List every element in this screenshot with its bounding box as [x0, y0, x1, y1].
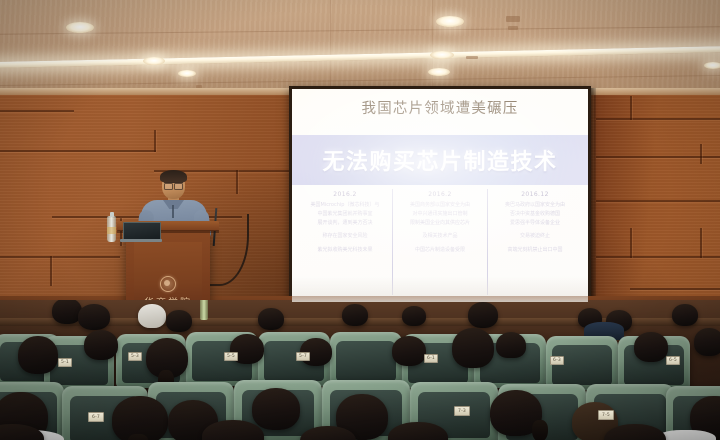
lecture-hall-photo: 我国芯片领域遭美碾压 无法购买芯片制造技术 2016.2 美国Microchip… [0, 0, 720, 440]
slide-text-line: 爱思强半导体设备企业 [492, 219, 578, 228]
seat-number-plate: 5-7 [296, 352, 310, 361]
seat-number-plate: 6-7 [88, 412, 104, 422]
ceiling-downlight [143, 57, 165, 65]
speaker-shirt-placket [172, 205, 174, 218]
ceiling-downlight [430, 51, 454, 59]
ceiling-downlight [66, 22, 94, 33]
slide-text-line: 否决中资基金收购德国 [492, 210, 578, 219]
audience-ponytail [532, 420, 548, 440]
ceiling-vent [466, 56, 478, 59]
audience-head [166, 310, 192, 332]
slide-column-body: 美国Microchip（微芯科技）与 中国紫光集团就并购事宜 展开谈判，遭到美方… [302, 201, 388, 255]
slide-text-line: 对中兴通讯实施出口管制 [397, 210, 483, 219]
ceiling-downlight [178, 70, 196, 77]
slide-text-line: 高端光刻机禁止出口中国 [492, 246, 578, 255]
slide-column-body: 美国商务部以国家安全为由 对中兴通讯实施出口管制 限制美国企业向其供应芯片 及相… [397, 201, 483, 255]
slide-column-date: 2016.2 [397, 191, 483, 198]
slide-text-line: 展开谈判，遭到美方否决 [302, 219, 388, 228]
seat-number-plate: 7-5 [598, 410, 614, 420]
seat-number-plate: 6-1 [424, 354, 438, 363]
audience-head [402, 306, 426, 326]
slide-text-line: 及相关技术产品 [397, 232, 483, 241]
eyeglasses-icon [164, 182, 183, 188]
audience-head [252, 388, 300, 430]
slide-text-line: 称存在国家安全风险 [302, 232, 388, 241]
slide-column-date: 2016.12 [492, 191, 578, 198]
audience-head [672, 304, 698, 326]
school-crest-icon [160, 276, 176, 292]
ceiling-seam [432, 0, 433, 92]
slide-text-line: 中国芯片制造设备受限 [397, 246, 483, 255]
audience-head [392, 336, 426, 366]
audience-ponytail [128, 434, 148, 440]
water-bottle [107, 216, 116, 242]
ceiling-texture [0, 0, 720, 92]
presenter-laptop [120, 222, 160, 242]
audience-head [694, 328, 720, 356]
audience-head [78, 304, 110, 330]
projection-screen: 我国芯片领域遭美碾压 无法购买芯片制造技术 2016.2 美国Microchip… [292, 89, 588, 302]
water-bottle [200, 300, 208, 320]
audience-head [258, 308, 284, 330]
ceiling-downlight [704, 62, 720, 69]
audience-head [496, 332, 526, 358]
slide-column-date: 2016.2 [302, 191, 388, 198]
slide-text-line: 美国Microchip（微芯科技）与 [302, 201, 388, 210]
ceiling-downlight [436, 16, 464, 27]
slide-text-line: 限制美国企业向其供应芯片 [397, 219, 483, 228]
audience-head [84, 330, 118, 360]
slide-text-line: 交易被迫终止 [492, 232, 578, 241]
audience-head [452, 328, 494, 368]
projection-screen-frame: 我国芯片领域遭美碾压 无法购买芯片制造技术 2016.2 美国Microchip… [289, 86, 591, 308]
ceiling [0, 0, 720, 92]
slide-text-line: 奥巴马政府以国家安全为由 [492, 201, 578, 210]
laptop-base [120, 239, 162, 242]
audience-head [342, 304, 368, 326]
slide-text-line: 中国紫光集团就并购事宜 [302, 210, 388, 219]
seat-number-plate: 5-1 [58, 358, 72, 367]
audience-head [138, 304, 166, 328]
seat-number-plate: 6-5 [666, 356, 680, 365]
ceiling-vent [506, 16, 520, 22]
slide-title: 我国芯片领域遭美碾压 [292, 97, 588, 118]
audience-area: 5-1 5-3 5-5 5-7 6-1 6-3 6-5 6-7 [0, 300, 720, 440]
audience-head [18, 336, 58, 374]
audience-head [468, 302, 498, 328]
auditorium-seat[interactable] [330, 332, 402, 386]
seat-number-plate: 6-3 [550, 356, 564, 365]
slide-headline: 无法购买芯片制造技术 [292, 135, 588, 185]
slide-text-line: 美国商务部以国家安全为由 [397, 201, 483, 210]
seat-number-plate: 5-3 [128, 352, 142, 361]
slide-text-line: 紫光拟收购美光科技未果 [302, 246, 388, 255]
slide-column-body: 奥巴马政府以国家安全为由 否决中资基金收购德国 爱思强半导体设备企业 交易被迫终… [492, 201, 578, 255]
slide-banner: 无法购买芯片制造技术 [292, 135, 588, 185]
seat-number-plate: 7-3 [454, 406, 470, 416]
seat-number-plate: 5-5 [224, 352, 238, 361]
screen-bottom-shading [292, 276, 588, 302]
ceiling-downlight [428, 68, 450, 76]
audience-head [634, 332, 668, 362]
ceiling-vent [508, 26, 518, 30]
ceiling-seam [330, 0, 331, 92]
